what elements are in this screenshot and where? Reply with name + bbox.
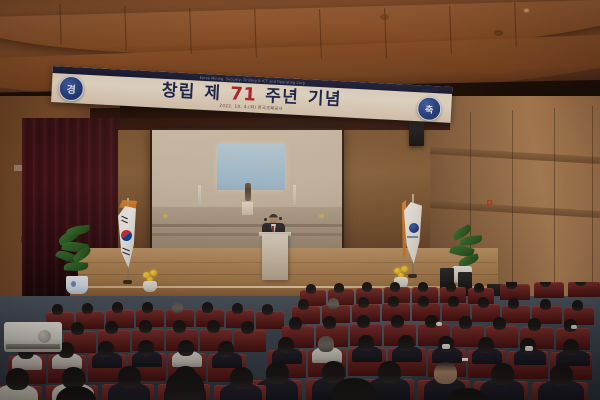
audience-head xyxy=(173,320,186,333)
chrysanthemum-flower xyxy=(150,270,157,276)
audience-head xyxy=(105,321,118,334)
organization-flag-emblem-icon xyxy=(408,222,420,234)
screen-seat-row xyxy=(152,224,342,227)
banner-word-4: 기념 xyxy=(307,90,342,109)
audience-head xyxy=(232,303,243,314)
stage-plank-line xyxy=(78,274,498,275)
audience-head xyxy=(328,298,339,309)
organization-flag-text-line xyxy=(407,236,418,238)
projector-cart-shelf xyxy=(6,344,60,349)
ceiling-speaker-icon xyxy=(409,120,424,146)
screen-flag-left-icon xyxy=(198,185,201,205)
audience-head xyxy=(172,302,183,313)
audience-head xyxy=(391,315,404,328)
audience-head xyxy=(508,298,519,309)
podium xyxy=(262,234,288,280)
audience-head xyxy=(390,282,400,292)
audience-head xyxy=(491,363,514,385)
ceiling-downlight xyxy=(523,8,530,13)
flag-base-right xyxy=(408,274,417,278)
screen-seat-row xyxy=(152,233,342,236)
face-mask-icon xyxy=(571,325,577,329)
audience-head xyxy=(474,283,484,293)
microphone-head-left xyxy=(264,218,267,221)
exit-indicator-light xyxy=(487,200,492,205)
audience-head xyxy=(138,340,154,356)
audience-head xyxy=(398,335,414,351)
audience-head xyxy=(262,304,273,315)
audience-head xyxy=(306,284,316,294)
ceiling-recessed-light xyxy=(380,14,389,20)
audience-head xyxy=(362,282,372,292)
audience-head xyxy=(230,367,253,389)
screen-podium xyxy=(242,202,253,215)
audience-seating xyxy=(0,282,600,400)
audience-head xyxy=(278,337,294,353)
audience-head xyxy=(358,297,369,308)
audience-head xyxy=(71,322,84,335)
audience-head xyxy=(6,368,29,390)
audience-head xyxy=(318,336,334,352)
audience-head xyxy=(118,366,141,388)
audience-head xyxy=(82,303,93,314)
audience-head xyxy=(459,316,472,329)
microphone-head-right xyxy=(279,217,282,220)
audience-head xyxy=(52,304,63,315)
audience-head xyxy=(289,317,302,330)
projection-screen-frame xyxy=(150,128,344,252)
screen-flag-right-icon xyxy=(293,185,296,205)
audience-head xyxy=(563,339,579,355)
audience-head xyxy=(434,362,457,384)
audience-head xyxy=(142,302,153,313)
audience-head xyxy=(550,364,573,386)
audience-head xyxy=(478,337,494,353)
audience-head xyxy=(528,318,541,331)
audience-head xyxy=(418,296,429,307)
face-mask-icon xyxy=(436,322,442,326)
audience-head xyxy=(178,340,194,356)
audience-head xyxy=(378,361,401,383)
audience-head xyxy=(572,300,583,311)
wall-switch-plate xyxy=(14,165,22,171)
face-mask-icon xyxy=(442,344,450,349)
projection-screen xyxy=(152,130,342,250)
audience-head xyxy=(446,282,456,292)
audience-head xyxy=(323,316,336,329)
audience-head xyxy=(207,320,220,333)
audience-head xyxy=(478,297,489,308)
audience-head xyxy=(98,341,114,357)
audience-head xyxy=(241,321,254,334)
banner-word-1: 창립 xyxy=(161,82,196,101)
audience-head xyxy=(418,282,428,292)
banner-word-3: 주년 xyxy=(265,88,300,107)
audience-head xyxy=(357,315,370,328)
audience-head xyxy=(218,341,234,357)
foreground-audience-head xyxy=(166,370,204,400)
projector-lens-icon xyxy=(38,330,51,343)
audience-head xyxy=(112,302,123,313)
audience-head xyxy=(202,302,213,313)
screen-speaker-figure xyxy=(245,183,251,201)
audience-head xyxy=(298,299,309,310)
audience-head xyxy=(266,362,289,384)
audience-head xyxy=(334,283,344,293)
audience-head xyxy=(506,282,517,289)
audience-head xyxy=(358,335,374,351)
audience-head xyxy=(493,317,506,330)
ceiling-recessed-light xyxy=(494,30,503,36)
audience-head xyxy=(540,299,551,310)
audience-head xyxy=(139,320,152,333)
audience-head xyxy=(448,296,459,307)
face-mask-icon xyxy=(525,346,533,351)
banner-anniversary-number: 71 xyxy=(230,85,257,104)
stage-plank-line xyxy=(80,262,496,263)
auditorium-photo: Korea Mining, Security, Drilling & ICT a… xyxy=(0,0,600,400)
banner-word-2: 제 xyxy=(204,85,222,103)
chrysanthemum-flower xyxy=(401,266,408,272)
audience-head xyxy=(388,296,399,307)
